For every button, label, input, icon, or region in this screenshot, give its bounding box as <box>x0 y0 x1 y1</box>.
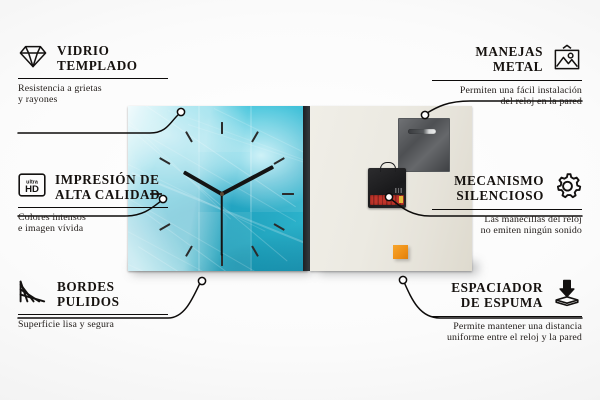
feature-title: VIDRIO TEMPLADO <box>57 44 138 73</box>
connector-dot-manejas <box>421 111 428 118</box>
feature-rule <box>432 316 582 317</box>
feature-impresion-alta-calidad: ultra HD IMPRESIÓN DE ALTA CALIDAD Color… <box>18 172 168 234</box>
svg-text:HD: HD <box>25 184 39 195</box>
feature-rule <box>432 80 582 81</box>
feature-description: Colores intensos e imagen vívida <box>18 212 168 235</box>
feature-rule <box>18 78 168 79</box>
press-down-icon <box>552 279 582 312</box>
feature-title: ESPACIADOR DE ESPUMA <box>451 281 543 310</box>
feature-bordes-pulidos: BORDES PULIDOS Superficie lisa y segura <box>18 279 168 330</box>
feature-manejas-metal: MANEJAS METAL Permiten una fácil instala… <box>432 44 582 107</box>
feature-vidrio-templado: VIDRIO TEMPLADO Resistencia a grietas y … <box>18 44 168 105</box>
feature-espaciador-espuma: ESPACIADOR DE ESPUMA Permite mantener un… <box>432 279 582 343</box>
feature-rule <box>18 314 168 315</box>
wall-frame-icon <box>552 44 582 76</box>
connector-dot-vidrio-templado <box>177 108 184 115</box>
feature-title: BORDES PULIDOS <box>57 280 119 309</box>
feature-rule <box>432 209 582 210</box>
connector-dot-bordes <box>198 277 205 284</box>
feature-mecanismo-silencioso: MECANISMO SILENCIOSO Las manecillas del … <box>432 172 582 236</box>
infographic-canvas: VIDRIO TEMPLADO Resistencia a grietas y … <box>0 0 600 400</box>
feature-title: MECANISMO SILENCIOSO <box>454 174 544 203</box>
connector-dot-mecanismo <box>385 193 392 200</box>
ultra-hd-icon: ultra HD <box>18 172 46 203</box>
connector-vidrio-templado <box>18 114 179 133</box>
feature-title: MANEJAS METAL <box>475 45 543 74</box>
feature-description: Permiten una fácil instalación del reloj… <box>432 85 582 108</box>
feature-description: Las manecillas del reloj no emiten ningú… <box>432 214 582 237</box>
feature-title: IMPRESIÓN DE ALTA CALIDAD <box>55 173 160 202</box>
diamond-icon <box>18 44 48 74</box>
feature-rule <box>18 207 168 208</box>
gear-icon <box>553 172 582 205</box>
feature-description: Superficie lisa y segura <box>18 319 168 330</box>
feature-description: Resistencia a grietas y rayones <box>18 83 168 106</box>
polished-edges-icon <box>18 279 48 310</box>
feature-description: Permite mantener una distancia uniforme … <box>432 321 582 344</box>
connector-dot-espaciador <box>399 276 406 283</box>
